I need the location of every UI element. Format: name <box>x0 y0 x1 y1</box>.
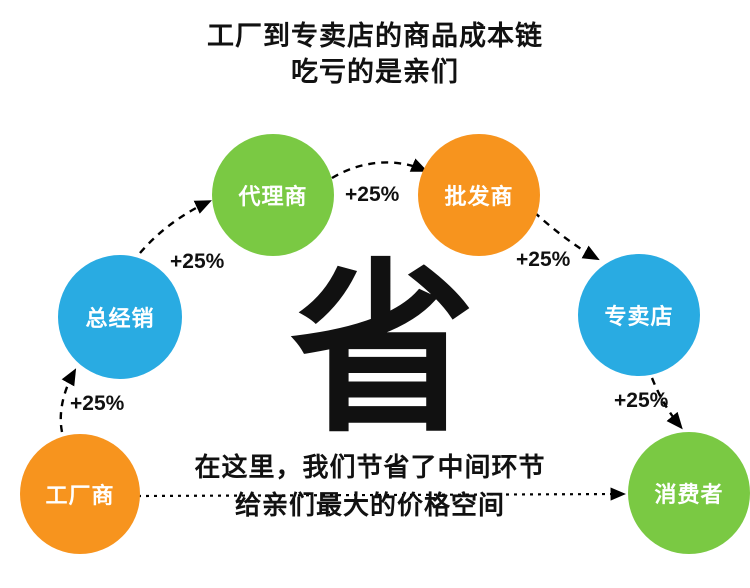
node-consumer-label: 消费者 <box>654 477 723 509</box>
node-factory-label: 工厂商 <box>45 478 114 510</box>
node-consumer[interactable]: 消费者 <box>628 432 750 554</box>
diagram-title: 工厂到专卖店的商品成本链 吃亏的是亲们 <box>0 18 750 90</box>
markup-distributor-to-agent: +25% <box>170 250 224 274</box>
node-agent[interactable]: 代理商 <box>212 134 334 256</box>
bottom-message: 在这里，我们节省了中间环节 给亲们最大的价格空间 <box>160 448 580 524</box>
diagram-canvas: 工厂到专卖店的商品成本链 吃亏的是亲们 省 在这里，我们节省了中间环节 给亲们最… <box>0 0 750 588</box>
title-line-1: 工厂到专卖店的商品成本链 <box>0 18 750 54</box>
node-agent-label: 代理商 <box>238 179 307 211</box>
markup-factory-to-distributor: +25% <box>70 392 124 416</box>
arrow-agent-to-wholesaler <box>332 162 424 178</box>
title-line-2: 吃亏的是亲们 <box>0 54 750 90</box>
markup-store-to-consumer: +25% <box>614 389 668 413</box>
node-wholesaler[interactable]: 批发商 <box>418 134 540 256</box>
bottom-line-2: 给亲们最大的价格空间 <box>160 486 580 524</box>
node-store[interactable]: 专卖店 <box>578 254 700 376</box>
arrow-distributor-to-agent <box>140 202 208 253</box>
node-wholesaler-label: 批发商 <box>444 179 513 211</box>
markup-agent-to-wholesaler: +25% <box>345 183 399 207</box>
bottom-line-1: 在这里，我们节省了中间环节 <box>160 448 580 486</box>
node-distributor-label: 总经销 <box>85 301 154 333</box>
node-distributor[interactable]: 总经销 <box>58 255 182 379</box>
node-store-label: 专卖店 <box>604 299 673 331</box>
markup-wholesaler-to-store: +25% <box>516 248 570 272</box>
node-factory[interactable]: 工厂商 <box>20 434 140 554</box>
center-character: 省 <box>290 258 475 443</box>
